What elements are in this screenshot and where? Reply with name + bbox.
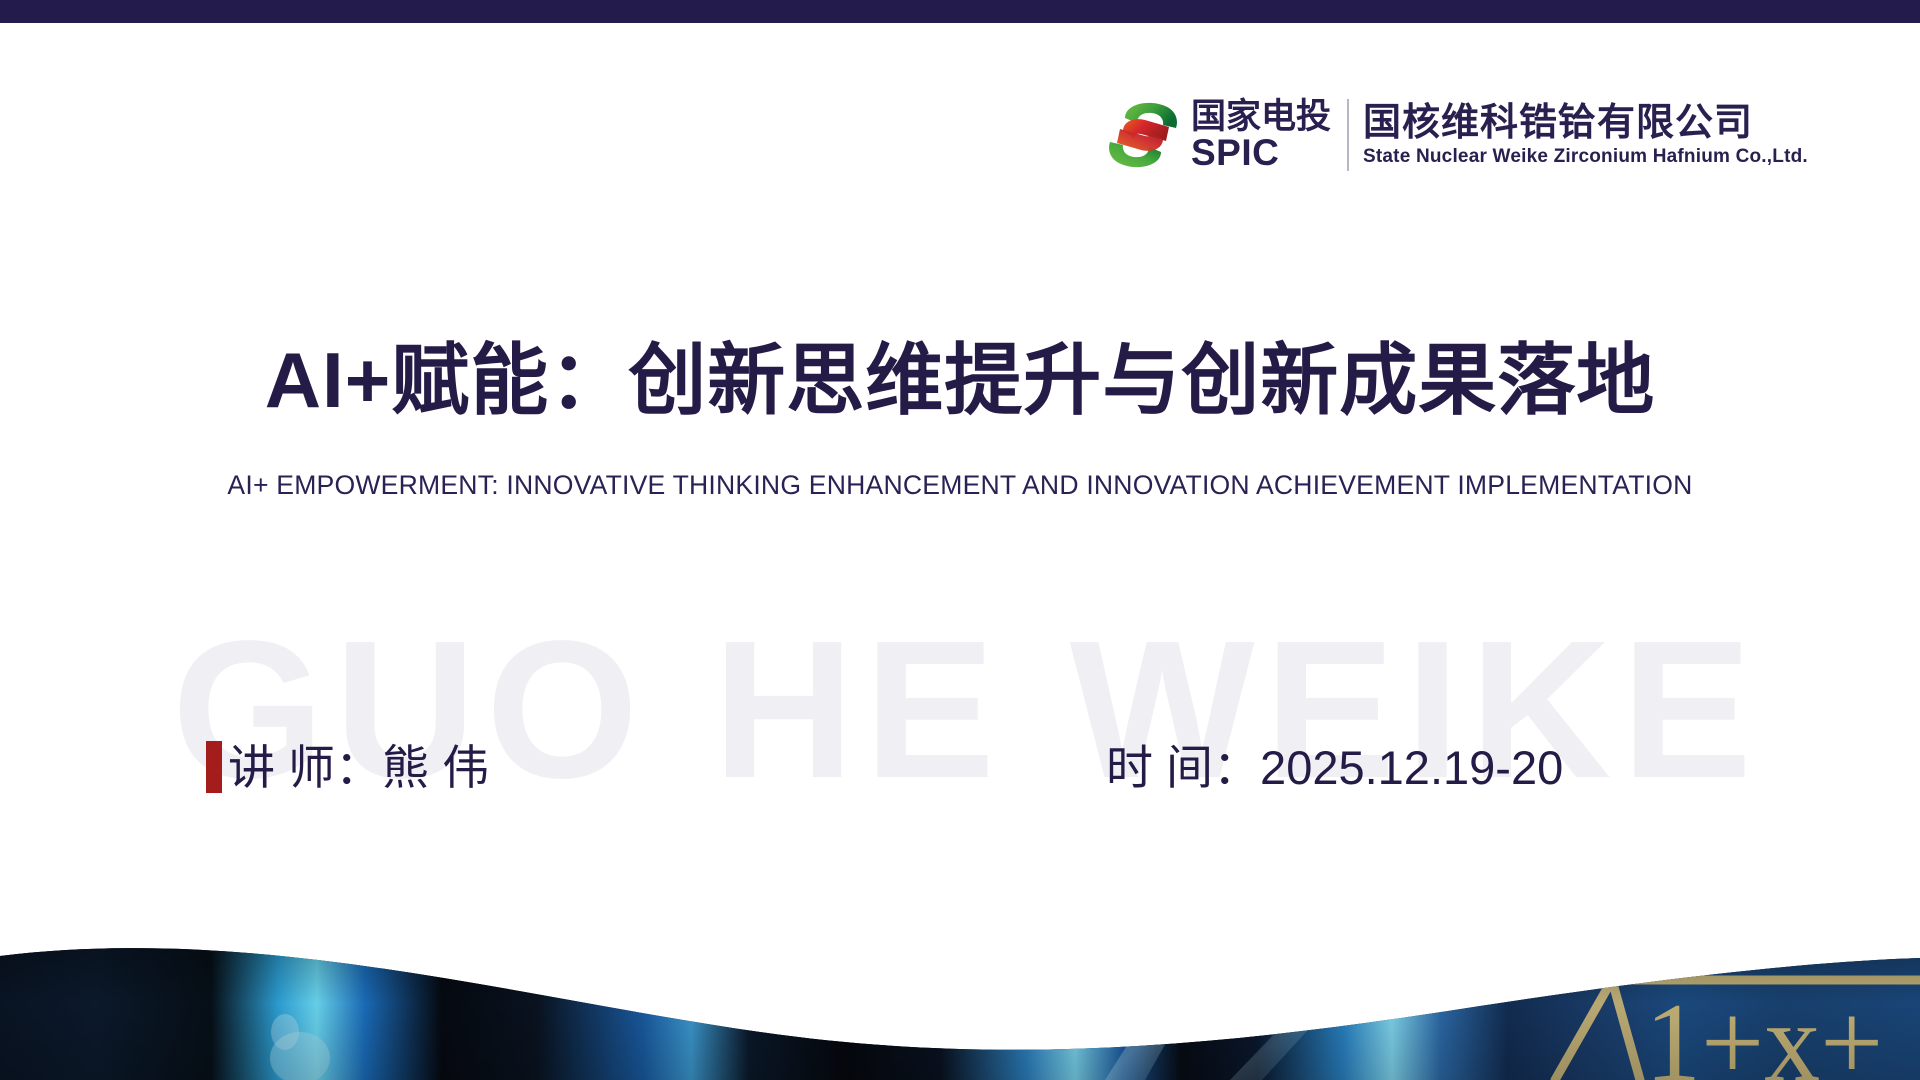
logo-divider: [1347, 99, 1349, 171]
spic-double-helix-logo-icon: [1103, 97, 1183, 173]
company-name-en: State Nuclear Weike Zirconium Hafnium Co…: [1363, 147, 1808, 168]
title-slide: GUO HE WEIKE: [0, 0, 1920, 1080]
slide-title-cn: AI+赋能：创新思维提升与创新成果落地: [0, 337, 1920, 424]
slide-meta-row: 讲 师：熊 伟 时 间：2025.12.19-20: [0, 735, 1920, 799]
footer-wave-band: 1+x+: [0, 940, 1920, 1080]
top-accent-bar: [0, 0, 1920, 23]
company-name-block: 国核维科锆铪有限公司 State Nuclear Weike Zirconium…: [1363, 95, 1808, 175]
logo-lockup: 国家电投 SPIC 国核维科锆铪有限公司 State Nuclear Weike…: [1103, 92, 1808, 178]
spic-name-en: SPIC: [1191, 134, 1331, 171]
date-label: 时 间：2025.12.19-20: [1106, 744, 1563, 791]
spic-name-cn: 国家电投: [1191, 99, 1331, 135]
date-info: 时 间：2025.12.19-20: [1106, 735, 1563, 799]
accent-bar-icon: [206, 741, 222, 793]
slide-title-en: AI+ EMPOWERMENT: INNOVATIVE THINKING ENH…: [14, 469, 1905, 501]
speaker-info: 讲 师：熊 伟: [206, 735, 489, 799]
spic-wordmark: 国家电投 SPIC: [1191, 96, 1331, 174]
speaker-label: 讲 师：熊 伟: [228, 744, 489, 791]
company-name-cn: 国核维科锆铪有限公司: [1363, 103, 1808, 144]
